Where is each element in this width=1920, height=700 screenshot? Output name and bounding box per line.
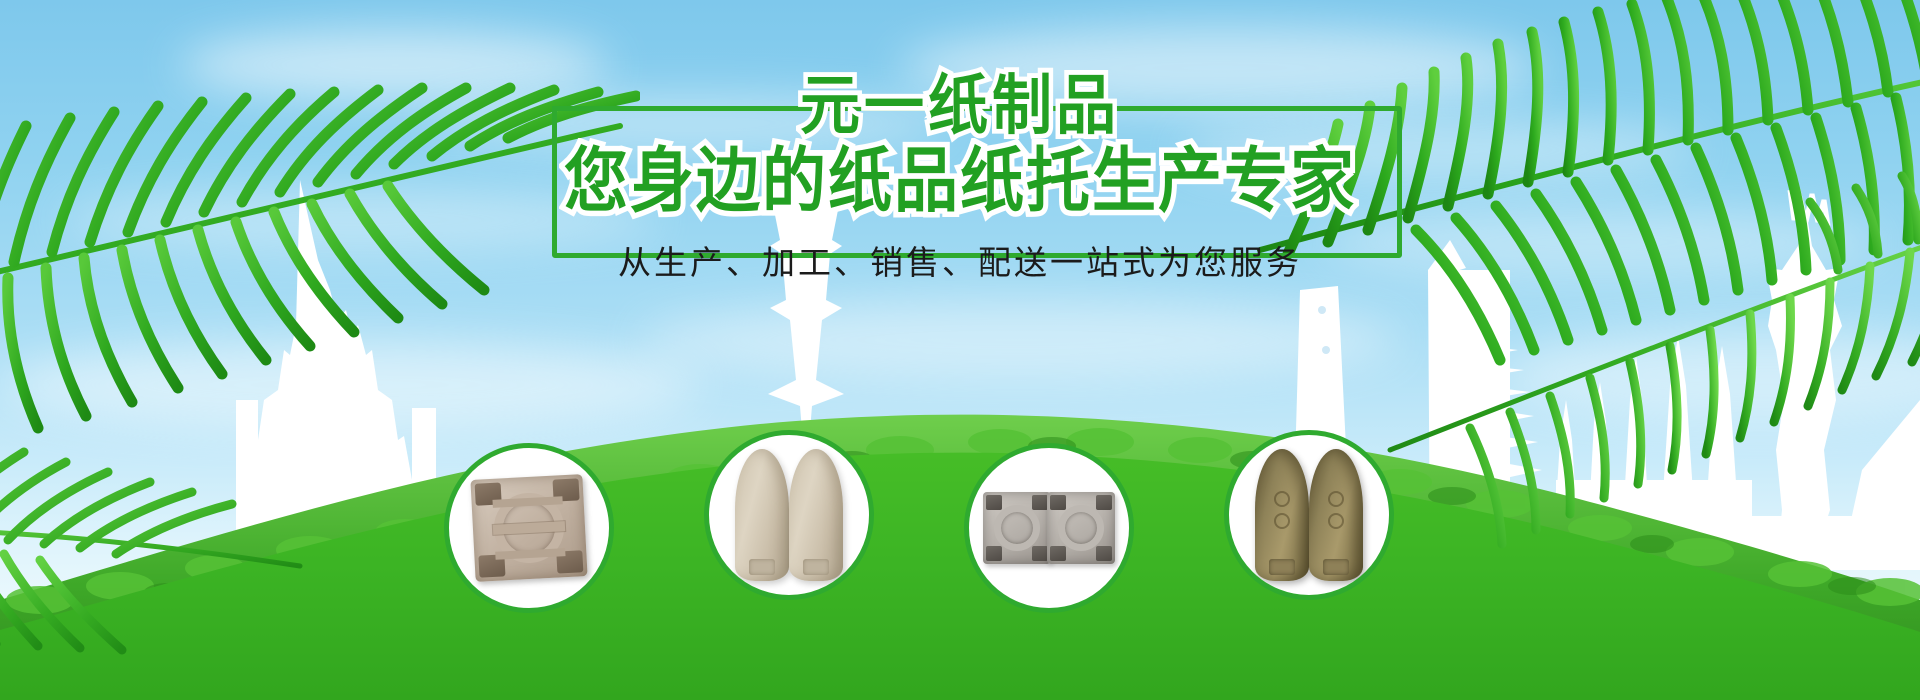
shoe-emboss-mark bbox=[1328, 491, 1344, 507]
tray-notch bbox=[1050, 546, 1066, 561]
shoe-form-left bbox=[1255, 449, 1309, 581]
shoe-form-right bbox=[789, 449, 843, 581]
shoe-emboss-mark bbox=[1328, 513, 1344, 529]
square-tray-body bbox=[470, 474, 587, 582]
product-showcase bbox=[0, 0, 1920, 700]
product-circle-grey-pulp-trays[interactable] bbox=[964, 443, 1134, 613]
shoe-emboss-mark bbox=[1274, 513, 1290, 529]
light-shoe-trees-art bbox=[709, 435, 869, 595]
tray-notch bbox=[1050, 495, 1066, 510]
tray-corner bbox=[556, 550, 583, 573]
promotional-banner: 元一纸制品 您身边的纸品纸托生产专家 从生产、加工、销售、配送一站式为您服务 bbox=[0, 0, 1920, 700]
tray-corner bbox=[478, 554, 505, 577]
tray-notch bbox=[1032, 495, 1048, 510]
square-pulp-tray-art bbox=[449, 448, 609, 608]
shoe-heel bbox=[1323, 559, 1349, 575]
tray-corner bbox=[475, 482, 502, 505]
product-circle-dark-pulp-shoe-trees[interactable] bbox=[1224, 430, 1394, 600]
shoe-form-left bbox=[735, 449, 789, 581]
shoe-heel bbox=[1269, 559, 1295, 575]
grey-pulp-trays-art bbox=[969, 448, 1129, 608]
tray-notch bbox=[1096, 495, 1112, 510]
product-circle-light-pulp-shoe-trees[interactable] bbox=[704, 430, 874, 600]
tray-notch bbox=[986, 546, 1002, 561]
shoe-heel bbox=[803, 559, 829, 575]
tray-notch bbox=[986, 495, 1002, 510]
tray-notch bbox=[1096, 546, 1112, 561]
tray-corner bbox=[553, 478, 580, 501]
shoe-form-right bbox=[1309, 449, 1363, 581]
shoe-heel bbox=[749, 559, 775, 575]
shoe-emboss-mark bbox=[1274, 491, 1290, 507]
dark-shoe-trees-art bbox=[1229, 435, 1389, 595]
grey-tray-right bbox=[1047, 492, 1115, 564]
tray-notch bbox=[1032, 546, 1048, 561]
grey-tray-left bbox=[983, 492, 1051, 564]
product-circle-square-pulp-tray[interactable] bbox=[444, 443, 614, 613]
